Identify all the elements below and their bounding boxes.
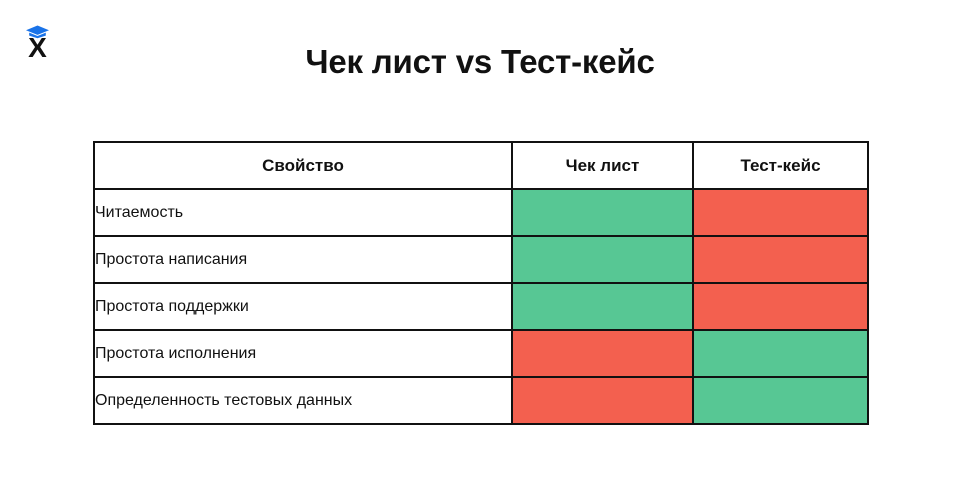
row-property-label: Простота исполнения [94, 330, 512, 377]
cell-check-list [512, 236, 693, 283]
table-row: Простота поддержки [94, 283, 868, 330]
column-header-property: Свойство [94, 142, 512, 189]
table-row: Определенность тестовых данных [94, 377, 868, 424]
cell-check-list [512, 189, 693, 236]
cell-test-case [693, 377, 868, 424]
column-header-check-list: Чек лист [512, 142, 693, 189]
column-header-test-case: Тест-кейс [693, 142, 868, 189]
table-body: Читаемость Простота написания Простота п… [94, 189, 868, 424]
row-property-label: Простота поддержки [94, 283, 512, 330]
cell-test-case [693, 283, 868, 330]
row-property-label: Простота написания [94, 236, 512, 283]
table-row: Простота написания [94, 236, 868, 283]
page-title: Чек лист vs Тест-кейс [0, 43, 960, 81]
table-row: Читаемость [94, 189, 868, 236]
cell-test-case [693, 330, 868, 377]
cell-check-list [512, 330, 693, 377]
cell-test-case [693, 236, 868, 283]
row-property-label: Читаемость [94, 189, 512, 236]
comparison-table: Свойство Чек лист Тест-кейс Читаемость П… [93, 141, 869, 425]
cell-test-case [693, 189, 868, 236]
table-row: Простота исполнения [94, 330, 868, 377]
cell-check-list [512, 283, 693, 330]
table-header: Свойство Чек лист Тест-кейс [94, 142, 868, 189]
table-header-row: Свойство Чек лист Тест-кейс [94, 142, 868, 189]
row-property-label: Определенность тестовых данных [94, 377, 512, 424]
cell-check-list [512, 377, 693, 424]
